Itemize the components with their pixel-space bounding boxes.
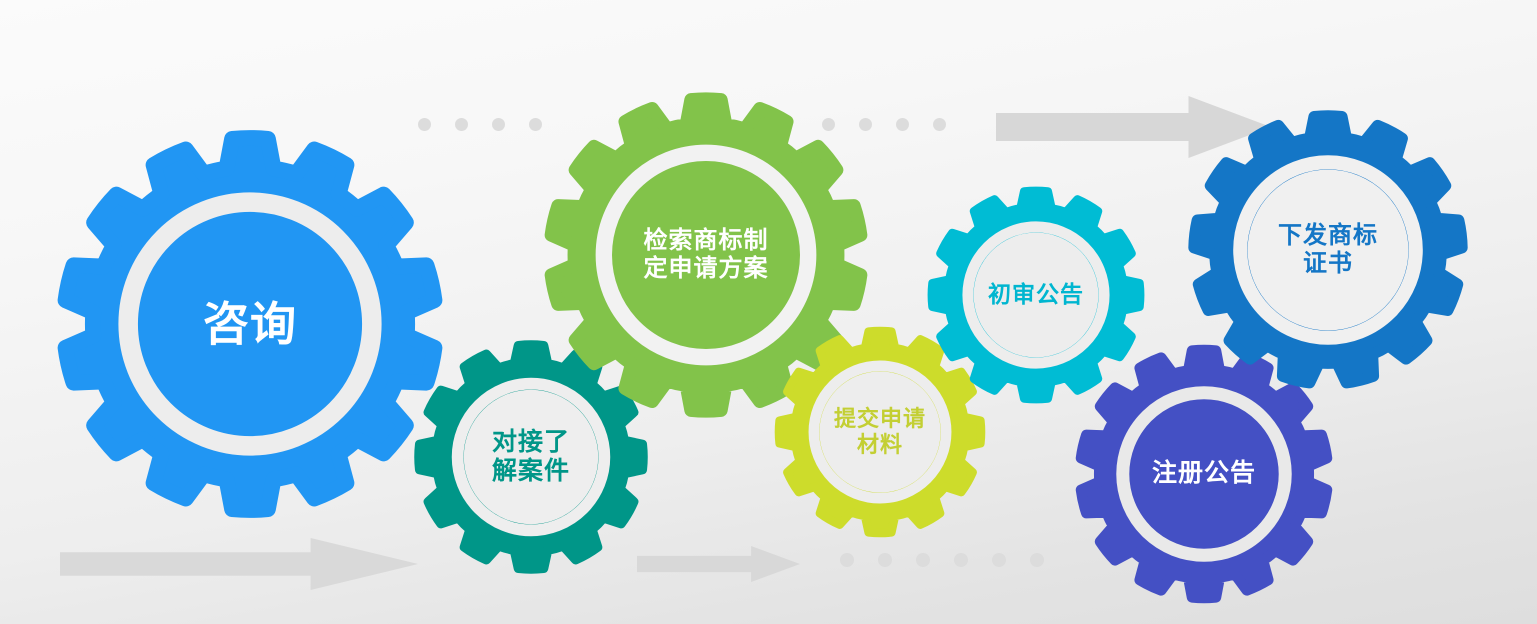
gear-hub-preliminary-announcement bbox=[974, 233, 1099, 358]
gear-issue-certificate[interactable]: 下发商标 证书 bbox=[1184, 106, 1472, 394]
flow-diagram-canvas: 咨询对接了 解案件检索商标制 定申请方案提交申请 材料初审公告注册公告下发商标 … bbox=[0, 0, 1537, 624]
gear-hub-issue-certificate bbox=[1248, 170, 1409, 331]
gear-hub-consultation bbox=[138, 212, 361, 435]
gear-hub-registration-announcement bbox=[1130, 400, 1279, 549]
gear-shape-consultation bbox=[54, 128, 446, 520]
gear-layer: 咨询对接了 解案件检索商标制 定申请方案提交申请 材料初审公告注册公告下发商标 … bbox=[0, 0, 1537, 624]
gear-consultation[interactable]: 咨询 bbox=[54, 128, 446, 520]
gear-shape-issue-certificate bbox=[1184, 106, 1472, 394]
